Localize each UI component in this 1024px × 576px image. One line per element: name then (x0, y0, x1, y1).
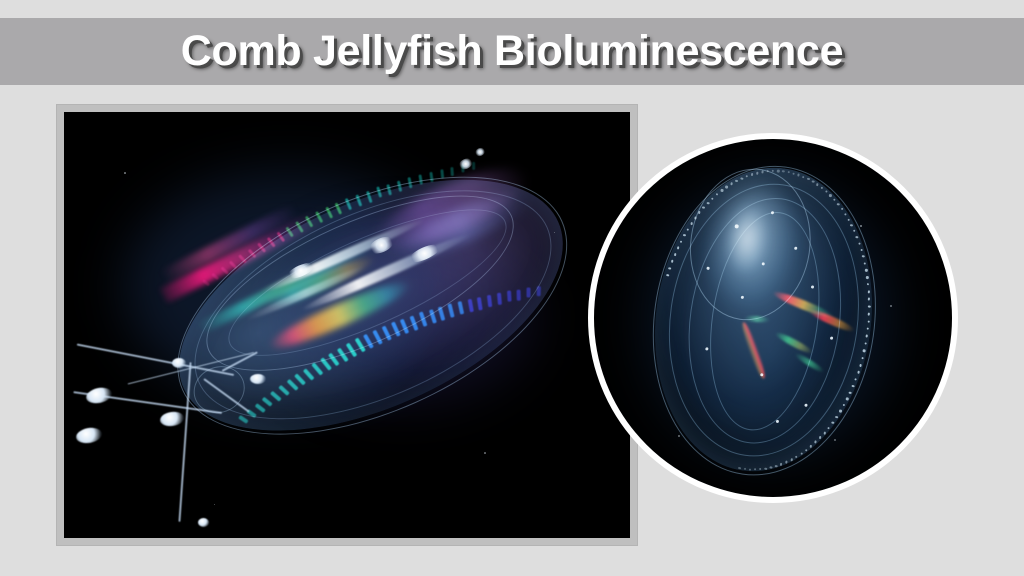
comb-plate (376, 187, 382, 199)
comb-plate (448, 303, 455, 317)
comb-plate (311, 362, 323, 375)
water-speck (214, 504, 215, 505)
comb-plate (363, 334, 374, 349)
cilia-dot (666, 274, 669, 277)
water-speck (890, 305, 892, 307)
cilia-dot (777, 170, 780, 173)
cilia-dot (846, 398, 849, 401)
water-speck (124, 172, 126, 174)
comb-plate (408, 177, 413, 188)
comb-plate (387, 183, 393, 195)
comb-plate (487, 294, 492, 307)
cilia-dot (764, 467, 767, 470)
main-photo-frame (57, 105, 637, 545)
cilia-dot (837, 203, 840, 206)
jellyfish-body (110, 112, 630, 538)
comb-plate (328, 352, 340, 366)
comb-jellyfish-main-photo (64, 112, 630, 538)
comb-plate (517, 289, 521, 300)
comb-plate (266, 237, 275, 248)
cilia-dot (775, 465, 778, 468)
cilia-dot (865, 269, 868, 272)
comb-plate (477, 296, 483, 309)
comb-plate (391, 322, 401, 337)
comb-plate (372, 330, 383, 345)
comb-plate (346, 343, 357, 358)
comb-plate (366, 190, 373, 202)
cilia-dot (725, 186, 728, 189)
cilia-dot (835, 416, 838, 419)
cilia-dot (823, 432, 826, 435)
comb-plate (382, 326, 392, 341)
comb-plate (335, 202, 343, 214)
cilia-dot (690, 222, 693, 225)
comb-plate (295, 221, 304, 233)
comb-jellyfish-inset-photo (588, 133, 958, 503)
cilia-dot (859, 364, 862, 367)
comb-plate (262, 397, 273, 407)
cilia-dot (707, 202, 710, 205)
cilia-dot (847, 218, 850, 221)
jellyfish-speck (706, 267, 709, 270)
comb-plate (325, 207, 333, 219)
comb-plate (238, 254, 247, 263)
water-speck (834, 439, 836, 441)
tentacle-tip (75, 426, 103, 445)
comb-plate (451, 167, 455, 176)
comb-plate (229, 261, 238, 270)
comb-plate (467, 299, 473, 313)
tentacle-tip (172, 358, 186, 368)
comb-plate (278, 385, 290, 396)
comb-plate (418, 174, 423, 185)
comb-plate (429, 172, 433, 182)
comb-plate (337, 347, 349, 361)
comb-plate (254, 403, 265, 413)
jellyfish-inset-body (636, 154, 891, 486)
tentacle-tip (198, 518, 209, 527)
water-speck (484, 452, 486, 454)
page-title: Comb Jellyfish Bioluminescence (181, 30, 843, 73)
cilia-dot (740, 177, 743, 180)
cilia-dot (850, 224, 853, 227)
comb-plate (270, 391, 282, 402)
comb-plate (400, 318, 409, 333)
comb-plate (355, 194, 362, 206)
comb-plate (536, 286, 540, 296)
cilia-dot (858, 242, 861, 245)
comb-plate (457, 301, 464, 315)
cilia-dot (674, 253, 677, 256)
cilia-dot (849, 391, 852, 394)
slide-canvas: Comb Jellyfish Bioluminescence (0, 0, 1024, 576)
cilia-dot (669, 267, 672, 270)
comb-plate (527, 287, 531, 297)
comb-plate (315, 211, 323, 223)
comb-plate (294, 373, 306, 385)
comb-plate (507, 291, 512, 303)
comb-plate (497, 293, 502, 305)
cilia-dot (863, 350, 866, 353)
comb-plate (354, 338, 365, 353)
tentacle-tip (250, 374, 266, 384)
cilia-dot (677, 247, 680, 250)
comb-plate (320, 357, 332, 371)
cilia-dot (852, 385, 855, 388)
cilia-dot (790, 458, 793, 461)
comb-plate (419, 312, 428, 327)
tentacle-tip (159, 410, 185, 427)
comb-plate (440, 169, 444, 179)
comb-plate (211, 273, 219, 281)
comb-plate (303, 368, 315, 381)
cilia-dot (831, 421, 834, 424)
comb-plate (409, 315, 418, 330)
comb-plate (220, 267, 229, 275)
cilia-dot (856, 236, 859, 239)
cilia-dot (829, 194, 832, 197)
comb-plate (345, 198, 352, 210)
cilia-dot (839, 410, 842, 413)
comb-plate (257, 243, 266, 253)
cilia-dot (694, 217, 697, 220)
comb-plate (286, 226, 295, 237)
cilia-dot (721, 189, 724, 192)
title-banner: Comb Jellyfish Bioluminescence (0, 18, 1024, 85)
cilia-dot (857, 371, 860, 374)
tentacle-tip (85, 385, 114, 405)
comb-plate (305, 216, 313, 228)
cilia-dot (867, 320, 870, 323)
comb-plate (428, 309, 436, 324)
cilia-dot (867, 290, 870, 293)
comb-plate (397, 180, 402, 191)
comb-plate (438, 306, 446, 321)
cilia-dot (866, 276, 869, 279)
cilia-dot (868, 305, 871, 308)
comb-plate (248, 249, 257, 259)
cilia-dot (735, 180, 738, 183)
comb-plate (276, 232, 285, 243)
cilia-dot (860, 249, 863, 252)
comb-plate (286, 379, 298, 391)
cilia-dot (769, 466, 772, 469)
